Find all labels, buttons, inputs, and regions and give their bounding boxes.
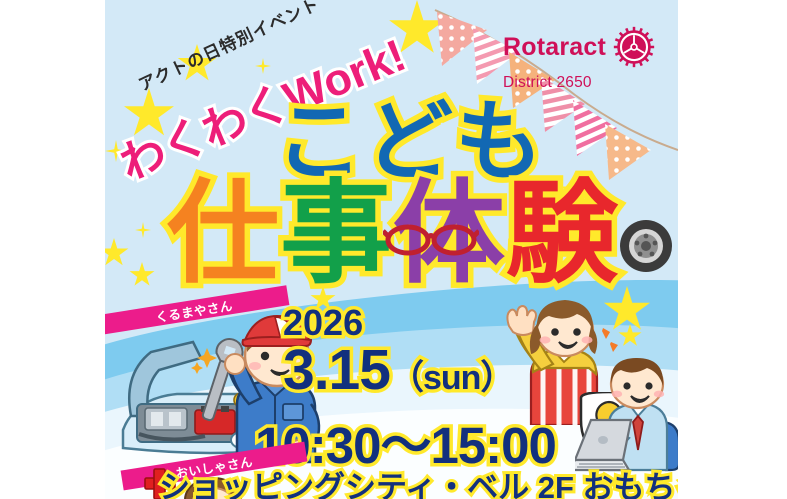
rotary-gear-wheel-icon [613,26,655,68]
event-day-of-week: （sun） [390,359,513,397]
rotaract-district-label: District 2650 [503,75,592,91]
title-char-goto: 事 [280,178,393,290]
event-date: 3.15（sun） [283,342,513,399]
poster-canvas: Rotaract [0,0,787,499]
boy-at-laptop-illustration [575,358,678,478]
tire-icon [618,218,674,274]
rotaract-wordmark: Rotaract [503,35,606,60]
glasses-icon [383,218,479,258]
rotaract-logo: Rotaract [503,26,655,91]
star-icon [105,238,129,268]
event-date-block: 2026 3.15（sun） [283,305,513,399]
title-char-shi: 仕 [167,178,280,290]
rotaract-logo-row: Rotaract [503,26,655,68]
title-char-ken: 験 [506,178,619,290]
poster-artwork: Rotaract [105,0,678,499]
event-year: 2026 [283,305,513,341]
star-icon [129,262,155,288]
event-venue: ショッピングシティ・ベル 2F おもちゃ売り場横 [159,462,678,499]
sparkle-icon [135,222,151,238]
event-date-number: 3.15 [283,338,390,402]
